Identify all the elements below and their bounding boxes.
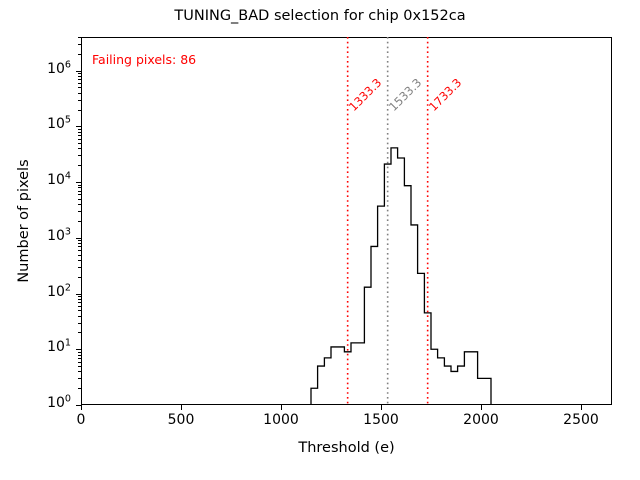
y-axis-minor-tick <box>78 299 81 300</box>
x-axis-tick-mark <box>381 405 382 410</box>
y-axis-minor-tick <box>78 267 81 268</box>
y-axis-minor-tick <box>78 194 81 195</box>
x-axis-tick-label: 500 <box>168 412 195 428</box>
y-axis-minor-tick <box>78 306 81 307</box>
y-axis-minor-tick <box>78 323 81 324</box>
y-axis-minor-tick <box>78 135 81 136</box>
x-axis-tick-mark <box>81 405 82 410</box>
y-axis-minor-tick <box>78 362 81 363</box>
x-axis-tick-mark <box>581 405 582 410</box>
y-axis-minor-tick <box>78 378 81 379</box>
y-axis-minor-tick <box>78 355 81 356</box>
x-axis-label: Threshold (e) <box>81 440 612 456</box>
y-axis-minor-tick <box>78 277 81 278</box>
y-axis-minor-tick <box>78 310 81 311</box>
y-axis-minor-tick <box>78 388 81 389</box>
y-axis-minor-tick <box>78 352 81 353</box>
y-axis-minor-tick <box>78 132 81 133</box>
y-axis-minor-tick <box>78 83 81 84</box>
y-axis-minor-tick <box>78 302 81 303</box>
y-axis-minor-tick <box>78 44 81 45</box>
y-axis-tick-label: 100 <box>0 395 71 411</box>
y-axis-minor-tick <box>78 240 81 241</box>
y-axis-minor-tick <box>78 139 81 140</box>
x-axis-tick-mark <box>481 405 482 410</box>
y-axis-minor-tick <box>78 366 81 367</box>
y-axis-minor-tick <box>78 37 81 38</box>
y-axis-minor-tick <box>78 211 81 212</box>
histogram-plot <box>81 37 612 405</box>
y-axis-minor-tick <box>78 316 81 317</box>
y-axis-tick-label: 105 <box>0 116 71 132</box>
y-axis-label: Number of pixels <box>16 37 32 405</box>
y-axis-tick-mark <box>76 182 81 183</box>
y-axis-minor-tick <box>78 73 81 74</box>
failing-pixels-annotation: Failing pixels: 86 <box>92 52 196 67</box>
y-axis-minor-tick <box>78 87 81 88</box>
x-axis-tick-label: 0 <box>77 412 86 428</box>
y-axis-minor-tick <box>78 191 81 192</box>
y-axis-tick-label: 102 <box>0 284 71 300</box>
plot-canvas <box>81 37 612 405</box>
y-axis-minor-tick <box>78 260 81 261</box>
y-axis-minor-tick <box>78 76 81 77</box>
y-axis-minor-tick <box>78 221 81 222</box>
y-axis-minor-tick <box>78 129 81 130</box>
y-axis-minor-tick <box>78 246 81 247</box>
y-axis-minor-tick <box>78 165 81 166</box>
y-axis-minor-tick <box>78 93 81 94</box>
x-axis-tick-label: 2500 <box>563 412 599 428</box>
y-axis-minor-tick <box>78 187 81 188</box>
y-axis-minor-tick <box>78 204 81 205</box>
x-axis-tick-mark <box>181 405 182 410</box>
y-axis-tick-mark <box>76 238 81 239</box>
x-axis-tick-mark <box>281 405 282 410</box>
y-axis-tick-label: 106 <box>0 61 71 77</box>
y-axis-minor-tick <box>78 250 81 251</box>
y-axis-minor-tick <box>78 255 81 256</box>
y-axis-minor-tick <box>78 155 81 156</box>
y-axis-tick-mark <box>76 126 81 127</box>
y-axis-tick-label: 104 <box>0 172 71 188</box>
y-axis-minor-tick <box>78 143 81 144</box>
y-axis-minor-tick <box>78 332 81 333</box>
page-title: TUNING_BAD selection for chip 0x152ca <box>0 8 640 24</box>
y-axis-minor-tick <box>78 110 81 111</box>
y-axis-tick-mark <box>76 349 81 350</box>
y-axis-tick-label: 101 <box>0 339 71 355</box>
y-axis-minor-tick <box>78 148 81 149</box>
y-axis-minor-tick <box>78 358 81 359</box>
x-axis-tick-label: 1500 <box>363 412 399 428</box>
y-axis-minor-tick <box>78 243 81 244</box>
y-axis-tick-mark <box>76 294 81 295</box>
y-axis-minor-tick <box>78 371 81 372</box>
x-axis-tick-label: 1000 <box>263 412 299 428</box>
y-axis-minor-tick <box>78 79 81 80</box>
y-axis-tick-mark <box>76 71 81 72</box>
y-axis-minor-tick <box>78 296 81 297</box>
matplotlib-figure: TUNING_BAD selection for chip 0x152ca 10… <box>0 0 640 480</box>
x-axis-tick-label: 2000 <box>463 412 499 428</box>
y-axis-tick-label: 103 <box>0 228 71 244</box>
y-axis-minor-tick <box>78 54 81 55</box>
y-axis-minor-tick <box>78 100 81 101</box>
y-axis-minor-tick <box>78 185 81 186</box>
y-axis-minor-tick <box>78 199 81 200</box>
